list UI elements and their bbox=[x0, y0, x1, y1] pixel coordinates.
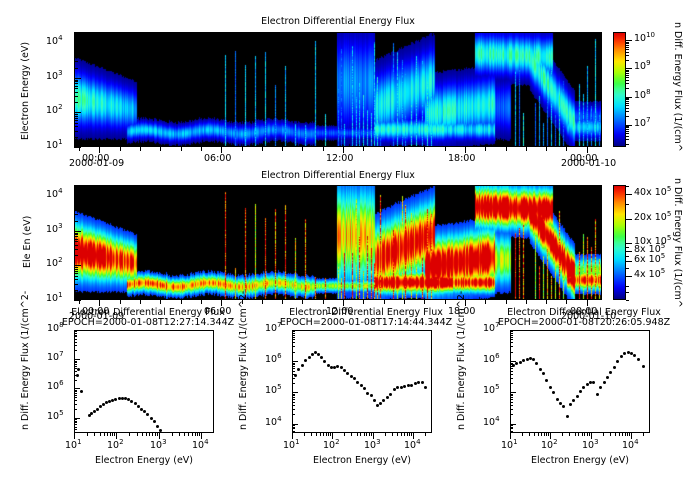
axis-tick bbox=[292, 399, 295, 400]
axis-tick bbox=[626, 60, 629, 61]
axis-tick bbox=[510, 342, 513, 343]
axis-tick bbox=[74, 273, 78, 274]
axis-tick bbox=[626, 247, 629, 248]
axis-tick bbox=[544, 433, 545, 436]
axis-tick bbox=[74, 96, 78, 97]
axis-tick bbox=[181, 147, 182, 151]
data-point bbox=[346, 372, 349, 375]
axis-tick bbox=[510, 395, 513, 396]
data-point bbox=[389, 393, 392, 396]
axis-tick bbox=[344, 433, 345, 436]
data-point bbox=[633, 354, 636, 357]
axis-tick bbox=[74, 265, 81, 266]
axis-tick bbox=[74, 234, 78, 235]
axis-tick bbox=[546, 147, 547, 151]
top-panel-title: Electron Differential Energy Flux bbox=[74, 16, 602, 27]
axis-tick bbox=[510, 361, 516, 362]
middle-colorbar[interactable] bbox=[613, 185, 626, 300]
axis-tick bbox=[485, 147, 486, 151]
axis-tick bbox=[510, 409, 513, 410]
axis-tick-label: 103 bbox=[364, 440, 381, 451]
axis-tick bbox=[629, 433, 630, 436]
axis-tick bbox=[575, 433, 576, 436]
axis-tick bbox=[129, 433, 130, 436]
axis-tick bbox=[74, 339, 77, 340]
axis-tick bbox=[142, 433, 143, 436]
axis-tick bbox=[626, 194, 632, 195]
axis-tick bbox=[157, 433, 158, 436]
axis-tick bbox=[74, 126, 78, 127]
axis-tick bbox=[74, 395, 77, 396]
data-point bbox=[320, 356, 323, 359]
axis-tick bbox=[292, 337, 295, 338]
axis-tick bbox=[529, 433, 530, 436]
axis-tick bbox=[626, 99, 629, 100]
axis-tick-label: 106 bbox=[483, 354, 500, 365]
axis-tick bbox=[195, 433, 196, 436]
axis-tick bbox=[323, 300, 324, 304]
axis-tick bbox=[74, 131, 78, 132]
axis-tick bbox=[100, 433, 101, 436]
axis-tick bbox=[404, 300, 405, 304]
axis-tick bbox=[510, 402, 513, 403]
axis-tick bbox=[626, 126, 629, 127]
axis-tick-label: 103 bbox=[582, 440, 599, 451]
axis-tick bbox=[506, 147, 507, 151]
axis-tick bbox=[626, 98, 629, 99]
data-point bbox=[410, 384, 413, 387]
axis-tick-label: 6x 105 bbox=[634, 254, 665, 265]
middle-panel-ylabel: Ele En (eV) bbox=[22, 216, 33, 268]
axis-tick bbox=[292, 352, 295, 353]
axis-tick bbox=[627, 433, 628, 436]
spectrogram-canvas bbox=[75, 186, 602, 300]
axis-tick bbox=[110, 433, 111, 436]
axis-tick bbox=[363, 147, 364, 151]
data-point bbox=[317, 353, 320, 356]
axis-tick bbox=[74, 279, 78, 280]
axis-tick bbox=[74, 409, 77, 410]
axis-tick bbox=[510, 428, 513, 429]
axis-tick bbox=[292, 402, 295, 403]
axis-tick bbox=[74, 245, 78, 246]
axis-tick bbox=[510, 399, 513, 400]
axis-tick bbox=[74, 342, 77, 343]
axis-tick bbox=[74, 198, 78, 199]
data-point bbox=[304, 359, 307, 362]
axis-tick-label: 104 bbox=[404, 440, 421, 451]
axis-tick bbox=[292, 409, 295, 410]
axis-tick bbox=[74, 239, 78, 240]
x-axis-time-label: 18:00 bbox=[448, 153, 475, 164]
axis-tick bbox=[74, 271, 78, 272]
axis-tick-label: 107 bbox=[483, 323, 500, 334]
axis-tick bbox=[626, 131, 629, 132]
axis-tick bbox=[242, 147, 243, 151]
axis-tick bbox=[74, 221, 78, 222]
data-point bbox=[379, 402, 382, 405]
axis-tick bbox=[302, 147, 303, 151]
axis-tick bbox=[74, 284, 78, 285]
axis-tick bbox=[626, 103, 629, 104]
axis-tick bbox=[74, 202, 78, 203]
axis-tick bbox=[292, 368, 295, 369]
axis-tick bbox=[591, 433, 592, 439]
axis-tick bbox=[74, 49, 78, 50]
axis-tick bbox=[74, 200, 78, 201]
axis-tick bbox=[74, 350, 77, 351]
data-point bbox=[403, 385, 406, 388]
axis-tick bbox=[292, 371, 295, 372]
data-point bbox=[162, 432, 165, 433]
axis-tick bbox=[425, 433, 426, 436]
axis-tick-label: 103 bbox=[46, 224, 63, 235]
axis-tick-label: 108 bbox=[634, 90, 651, 101]
data-point bbox=[134, 402, 137, 405]
axis-tick bbox=[510, 364, 513, 365]
axis-tick bbox=[626, 261, 632, 262]
axis-tick bbox=[292, 366, 295, 367]
axis-tick bbox=[107, 433, 108, 436]
data-point bbox=[569, 403, 572, 406]
axis-tick bbox=[401, 433, 402, 436]
spectrogram-canvas bbox=[75, 33, 602, 147]
axis-tick bbox=[74, 364, 77, 365]
axis-tick bbox=[320, 433, 321, 436]
data-point bbox=[623, 352, 626, 355]
axis-tick bbox=[578, 433, 579, 436]
axis-tick bbox=[172, 433, 173, 436]
data-point bbox=[396, 386, 399, 389]
axis-tick bbox=[510, 331, 513, 332]
axis-tick bbox=[201, 147, 202, 151]
axis-tick-label: 105 bbox=[483, 385, 500, 396]
data-point bbox=[323, 360, 326, 363]
axis-tick bbox=[160, 300, 161, 304]
axis-tick-label: 104 bbox=[265, 417, 282, 428]
axis-tick bbox=[510, 363, 513, 364]
axis-tick bbox=[74, 214, 78, 215]
axis-tick bbox=[384, 147, 385, 151]
axis-tick bbox=[74, 118, 78, 119]
axis-tick bbox=[328, 433, 329, 436]
top-xaxis-date-right: 2000-01-10 bbox=[561, 158, 616, 169]
axis-tick bbox=[626, 116, 629, 117]
axis-tick bbox=[510, 337, 513, 338]
axis-tick bbox=[363, 300, 364, 304]
data-point bbox=[153, 420, 156, 423]
axis-tick bbox=[74, 331, 77, 332]
data-point bbox=[353, 377, 356, 380]
axis-tick-label: 101 bbox=[283, 440, 300, 451]
axis-tick bbox=[506, 300, 507, 304]
axis-tick bbox=[510, 378, 513, 379]
axis-tick bbox=[369, 433, 370, 436]
axis-tick bbox=[74, 269, 78, 270]
axis-tick bbox=[292, 383, 295, 384]
axis-tick bbox=[366, 433, 367, 436]
axis-tick bbox=[74, 186, 78, 187]
axis-tick bbox=[292, 397, 295, 398]
axis-tick bbox=[615, 433, 616, 436]
axis-tick bbox=[292, 433, 293, 439]
axis-tick bbox=[74, 57, 78, 58]
axis-tick-label: 103 bbox=[46, 71, 63, 82]
axis-tick bbox=[292, 363, 295, 364]
axis-tick bbox=[603, 433, 604, 436]
data-point bbox=[96, 408, 99, 411]
spectrum-xlabel-3: Electron Energy (eV) bbox=[490, 455, 670, 466]
axis-tick-label: 104 bbox=[622, 440, 639, 451]
axis-tick bbox=[74, 345, 77, 346]
axis-tick bbox=[510, 368, 513, 369]
data-point bbox=[576, 395, 579, 398]
axis-tick bbox=[510, 352, 513, 353]
axis-tick bbox=[179, 433, 180, 436]
axis-tick bbox=[526, 300, 527, 304]
axis-tick bbox=[74, 380, 77, 381]
axis-tick bbox=[566, 300, 567, 304]
axis-tick bbox=[74, 233, 78, 234]
axis-tick-label: 101 bbox=[46, 293, 63, 304]
spectrum-plot-2[interactable] bbox=[292, 330, 432, 433]
axis-tick bbox=[74, 404, 77, 405]
data-point bbox=[562, 405, 565, 408]
data-point bbox=[393, 388, 396, 391]
axis-tick bbox=[587, 433, 588, 436]
axis-tick bbox=[74, 33, 78, 34]
axis-tick bbox=[510, 335, 513, 336]
axis-tick bbox=[626, 68, 632, 69]
axis-tick bbox=[74, 51, 78, 52]
axis-tick bbox=[74, 427, 77, 428]
axis-tick bbox=[626, 111, 629, 112]
axis-tick bbox=[626, 71, 629, 72]
axis-tick bbox=[149, 433, 150, 436]
data-point bbox=[539, 368, 542, 371]
data-point bbox=[616, 360, 619, 363]
axis-tick bbox=[411, 433, 412, 436]
data-point bbox=[552, 391, 555, 394]
top-colorbar[interactable] bbox=[613, 32, 626, 147]
axis-tick bbox=[626, 70, 629, 71]
axis-tick bbox=[626, 45, 629, 46]
axis-tick bbox=[74, 236, 78, 237]
spectrum-plot-3[interactable] bbox=[510, 330, 650, 433]
axis-tick bbox=[323, 147, 324, 151]
axis-tick bbox=[74, 388, 80, 389]
axis-tick bbox=[292, 331, 295, 332]
axis-tick bbox=[74, 335, 77, 336]
data-point bbox=[572, 399, 575, 402]
axis-tick-label: 10x 105 bbox=[634, 236, 671, 247]
axis-tick bbox=[74, 116, 78, 117]
axis-tick bbox=[371, 433, 372, 436]
axis-tick bbox=[74, 78, 81, 79]
data-point bbox=[343, 369, 346, 372]
data-point bbox=[130, 400, 133, 403]
axis-tick bbox=[188, 433, 189, 436]
axis-tick bbox=[610, 433, 611, 436]
axis-tick bbox=[626, 139, 629, 140]
axis-tick bbox=[445, 147, 446, 151]
axis-tick bbox=[74, 429, 77, 430]
axis-tick bbox=[510, 414, 513, 415]
data-point bbox=[566, 415, 569, 418]
axis-tick bbox=[292, 427, 295, 428]
top-spectrogram-plot[interactable] bbox=[74, 32, 602, 147]
axis-tick bbox=[74, 255, 78, 256]
axis-tick bbox=[74, 112, 81, 113]
x-axis-time-label: 12:00 bbox=[326, 153, 353, 164]
axis-tick bbox=[94, 433, 95, 436]
axis-tick bbox=[292, 364, 295, 365]
axis-tick bbox=[74, 137, 78, 138]
axis-tick bbox=[159, 433, 160, 439]
axis-tick-label: 105 bbox=[265, 385, 282, 396]
axis-tick bbox=[626, 127, 629, 128]
axis-tick bbox=[546, 433, 547, 436]
axis-tick bbox=[74, 83, 78, 84]
axis-tick-label: 102 bbox=[541, 440, 558, 451]
spectrum-plot-1[interactable] bbox=[74, 330, 214, 433]
axis-tick bbox=[292, 333, 295, 334]
axis-tick-label: 104 bbox=[46, 36, 63, 47]
axis-tick bbox=[74, 81, 78, 82]
axis-tick-label: 102 bbox=[107, 440, 124, 451]
axis-tick bbox=[74, 336, 77, 337]
axis-tick bbox=[626, 52, 629, 53]
axis-tick bbox=[626, 42, 629, 43]
axis-tick bbox=[626, 75, 629, 76]
axis-tick bbox=[546, 300, 547, 304]
axis-tick bbox=[199, 433, 200, 436]
spectrum-xlabel-2: Electron Energy (eV) bbox=[272, 455, 452, 466]
axis-tick bbox=[74, 241, 78, 242]
data-point bbox=[579, 390, 582, 393]
axis-tick bbox=[404, 147, 405, 151]
data-point bbox=[421, 381, 424, 384]
axis-tick bbox=[373, 433, 374, 439]
data-point bbox=[424, 386, 427, 389]
axis-tick-label: 108 bbox=[47, 323, 64, 334]
axis-tick-label: 102 bbox=[46, 258, 63, 269]
axis-tick-label: 102 bbox=[46, 105, 63, 116]
axis-tick bbox=[74, 422, 77, 423]
axis-tick bbox=[292, 431, 295, 432]
data-point bbox=[363, 387, 366, 390]
axis-tick bbox=[626, 276, 632, 277]
data-point bbox=[150, 417, 153, 420]
axis-tick bbox=[74, 393, 77, 394]
axis-tick bbox=[192, 433, 193, 436]
axis-tick bbox=[74, 120, 78, 121]
axis-tick bbox=[74, 231, 81, 232]
axis-tick bbox=[201, 300, 202, 304]
axis-tick bbox=[360, 433, 361, 436]
axis-tick bbox=[626, 88, 629, 89]
axis-tick bbox=[510, 397, 513, 398]
axis-tick bbox=[626, 77, 629, 78]
axis-tick bbox=[541, 433, 542, 436]
axis-tick bbox=[626, 286, 629, 287]
axis-tick-label: 101 bbox=[501, 440, 518, 451]
axis-tick-label: 105 bbox=[47, 411, 64, 422]
axis-tick-label: 107 bbox=[265, 323, 282, 334]
axis-tick bbox=[626, 136, 629, 137]
data-point bbox=[77, 368, 80, 371]
axis-tick bbox=[626, 101, 629, 102]
data-point bbox=[336, 365, 339, 368]
axis-tick bbox=[74, 196, 81, 197]
axis-tick bbox=[548, 433, 549, 436]
axis-tick bbox=[385, 433, 386, 436]
spectrum-ylabel-1: n Diff. Energy Flux (1/(cm^2- bbox=[20, 291, 31, 430]
axis-tick bbox=[74, 114, 78, 115]
axis-tick bbox=[589, 433, 590, 436]
axis-tick bbox=[538, 433, 539, 436]
axis-tick bbox=[626, 55, 629, 56]
data-point bbox=[596, 393, 599, 396]
data-point bbox=[542, 372, 545, 375]
axis-tick bbox=[510, 431, 513, 432]
axis-tick bbox=[292, 361, 298, 362]
axis-tick bbox=[625, 433, 626, 436]
axis-tick bbox=[485, 300, 486, 304]
axis-tick bbox=[424, 147, 425, 151]
data-point bbox=[156, 425, 159, 428]
axis-tick bbox=[74, 45, 78, 46]
axis-tick bbox=[626, 43, 629, 44]
axis-tick bbox=[510, 383, 513, 384]
axis-tick bbox=[626, 256, 629, 257]
axis-tick bbox=[74, 47, 78, 48]
data-point bbox=[370, 394, 373, 397]
axis-tick bbox=[619, 433, 620, 436]
data-point bbox=[417, 381, 420, 384]
axis-tick bbox=[292, 425, 295, 426]
data-point bbox=[519, 361, 522, 364]
data-point bbox=[637, 358, 640, 361]
axis-tick bbox=[510, 366, 513, 367]
axis-tick bbox=[74, 371, 77, 372]
axis-tick bbox=[146, 433, 147, 436]
axis-tick bbox=[626, 219, 632, 220]
axis-tick bbox=[510, 339, 513, 340]
axis-tick bbox=[510, 433, 511, 439]
axis-tick bbox=[626, 243, 632, 244]
axis-tick bbox=[626, 73, 629, 74]
data-point bbox=[376, 404, 379, 407]
axis-tick-label: 103 bbox=[150, 440, 167, 451]
axis-tick bbox=[626, 108, 629, 109]
axis-tick-label: 104 bbox=[46, 189, 63, 200]
axis-tick bbox=[74, 54, 78, 55]
axis-tick bbox=[155, 433, 156, 436]
axis-tick bbox=[262, 147, 263, 151]
axis-tick bbox=[292, 339, 295, 340]
x-axis-time-label: 06:00 bbox=[204, 153, 231, 164]
data-point bbox=[297, 368, 300, 371]
axis-tick bbox=[137, 433, 138, 436]
axis-tick bbox=[292, 428, 295, 429]
axis-tick bbox=[292, 378, 295, 379]
axis-tick bbox=[140, 300, 141, 304]
middle-spectrogram-plot[interactable] bbox=[74, 185, 602, 300]
data-point bbox=[382, 399, 385, 402]
axis-tick bbox=[282, 300, 283, 304]
axis-tick bbox=[120, 147, 121, 151]
